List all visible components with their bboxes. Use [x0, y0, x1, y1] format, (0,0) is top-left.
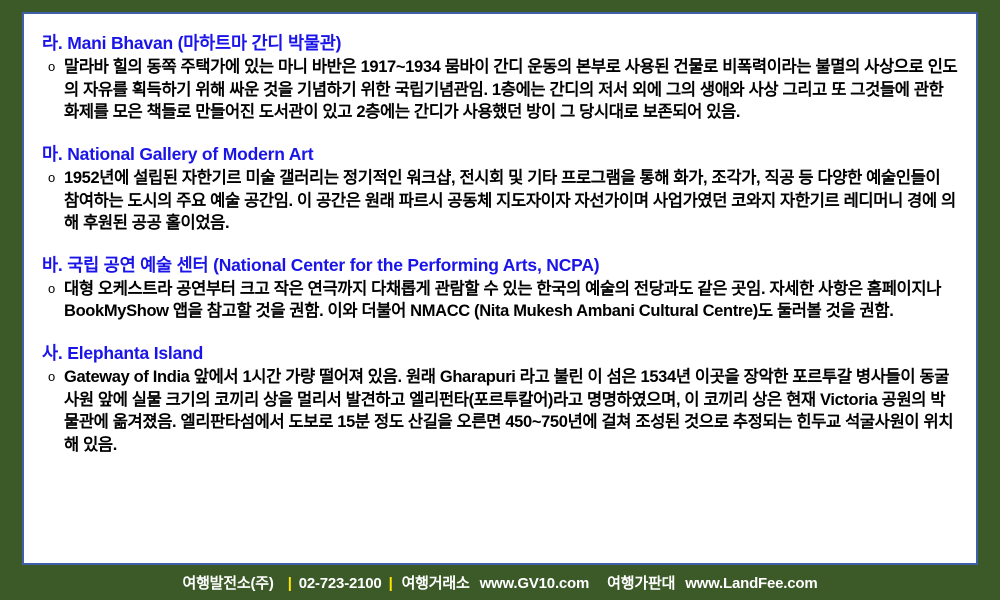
section-heading: 바. 국립 공연 예술 센터 (National Center for the …	[42, 254, 958, 277]
list-item-text: Gateway of India 앞에서 1시간 가량 떨어져 있음. 원래 G…	[64, 366, 958, 456]
section-heading: 사. Elephanta Island	[42, 342, 958, 365]
list-item: o Gateway of India 앞에서 1시간 가량 떨어져 있음. 원래…	[42, 366, 958, 456]
slide-root: 라. Mani Bhavan (마하트마 간디 박물관) o 말라바 힐의 동쪽…	[0, 0, 1000, 600]
footer-label-travel-exchange: 여행거래소	[402, 572, 470, 593]
list-item-text: 말라바 힐의 동쪽 주택가에 있는 마니 바반은 1917~1934 뭄바이 간…	[64, 56, 958, 124]
list-item: o 말라바 힐의 동쪽 주택가에 있는 마니 바반은 1917~1934 뭄바이…	[42, 56, 958, 124]
footer-company-name: 여행발전소(주)	[182, 572, 273, 593]
section-heading: 마. National Gallery of Modern Art	[42, 143, 958, 166]
bullet-circle-icon: o	[48, 56, 55, 78]
footer-link-gv10[interactable]: www.GV10.com	[480, 575, 590, 592]
section-elephanta-island: 사. Elephanta Island o Gateway of India 앞…	[42, 342, 958, 456]
section-heading: 라. Mani Bhavan (마하트마 간디 박물관)	[42, 32, 958, 55]
bullet-list: o Gateway of India 앞에서 1시간 가량 떨어져 있음. 원래…	[42, 366, 958, 456]
section-mani-bhavan: 라. Mani Bhavan (마하트마 간디 박물관) o 말라바 힐의 동쪽…	[42, 32, 958, 124]
footer-link-landfee[interactable]: www.LandFee.com	[685, 575, 817, 592]
bullet-circle-icon: o	[48, 167, 55, 189]
bullet-list: o 1952년에 설립된 자한기르 미술 갤러리는 정기적인 워크샵, 전시회 …	[42, 167, 958, 235]
bullet-list: o 말라바 힐의 동쪽 주택가에 있는 마니 바반은 1917~1934 뭄바이…	[42, 56, 958, 124]
footer-label-travel-stand: 여행가판대	[607, 572, 675, 593]
section-ncpa: 바. 국립 공연 예술 센터 (National Center for the …	[42, 254, 958, 323]
content-panel: 라. Mani Bhavan (마하트마 간디 박물관) o 말라바 힐의 동쪽…	[22, 12, 978, 565]
footer-bar: 여행발전소(주) | 02-723-2100 | 여행거래소 www.GV10.…	[0, 565, 1000, 600]
bullet-circle-icon: o	[48, 366, 55, 388]
section-national-gallery-of-modern-art: 마. National Gallery of Modern Art o 1952…	[42, 143, 958, 235]
list-item-text: 1952년에 설립된 자한기르 미술 갤러리는 정기적인 워크샵, 전시회 및 …	[64, 167, 958, 235]
list-item-text: 대형 오케스트라 공연부터 크고 작은 연극까지 다채롭게 관람할 수 있는 한…	[64, 278, 958, 323]
bullet-list: o 대형 오케스트라 공연부터 크고 작은 연극까지 다채롭게 관람할 수 있는…	[42, 278, 958, 323]
bullet-circle-icon: o	[48, 278, 55, 300]
footer-separator: |	[389, 575, 393, 592]
footer-phone-number: 02-723-2100	[299, 575, 382, 592]
footer-content: 여행발전소(주) | 02-723-2100 | 여행거래소 www.GV10.…	[182, 572, 817, 593]
list-item: o 1952년에 설립된 자한기르 미술 갤러리는 정기적인 워크샵, 전시회 …	[42, 167, 958, 235]
list-item: o 대형 오케스트라 공연부터 크고 작은 연극까지 다채롭게 관람할 수 있는…	[42, 278, 958, 323]
footer-separator: |	[288, 575, 292, 592]
